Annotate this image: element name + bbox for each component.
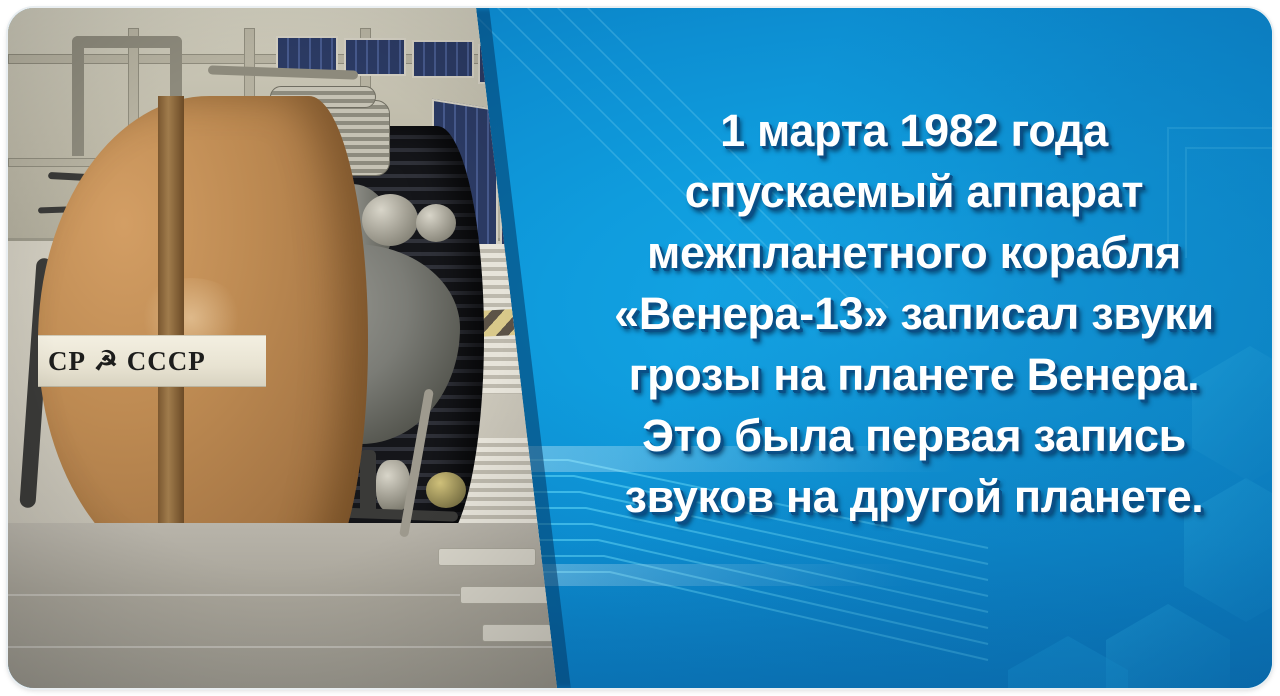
headline-line-3: межпланетного корабля: [564, 222, 1264, 283]
headline-text-block: 1 марта 1982 года спускаемый аппарат меж…: [564, 100, 1264, 527]
screenshot-canvas: СР ☭ СССР: [0, 0, 1280, 696]
headline-line-5: грозы на планете Венера.: [564, 344, 1264, 405]
headline-line-6: Это была первая запись: [564, 405, 1264, 466]
headline-line-4: «Венера-13» записал звуки: [564, 283, 1264, 344]
headline-line-2: спускаемый аппарат: [564, 161, 1264, 222]
fact-card: СР ☭ СССР: [8, 8, 1272, 688]
headline-line-7: звуков на другой планете.: [564, 466, 1264, 527]
headline-line-1: 1 марта 1982 года: [564, 100, 1264, 161]
